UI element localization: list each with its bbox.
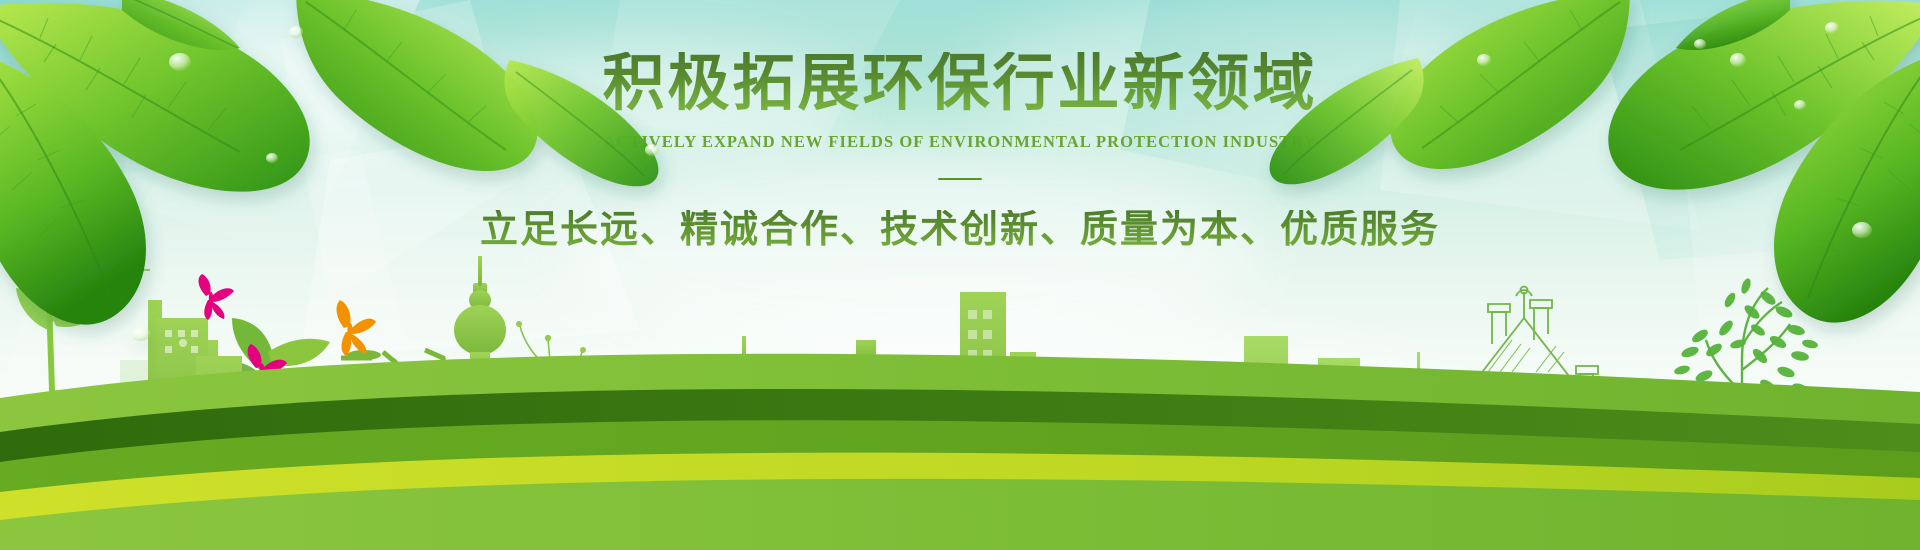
tagline: 立足长远、精诚合作、技术创新、质量为本、优质服务	[0, 210, 1920, 248]
banner-text-block: 积极拓展环保行业新领域 ACTIVELY EXPAND NEW FIELDS O…	[0, 52, 1920, 248]
subtitle-english: ACTIVELY EXPAND NEW FIELDS OF ENVIRONMEN…	[0, 132, 1920, 152]
divider	[938, 178, 982, 180]
environmental-banner: 积极拓展环保行业新领域 ACTIVELY EXPAND NEW FIELDS O…	[0, 0, 1920, 550]
page-title: 积极拓展环保行业新领域	[0, 52, 1920, 114]
